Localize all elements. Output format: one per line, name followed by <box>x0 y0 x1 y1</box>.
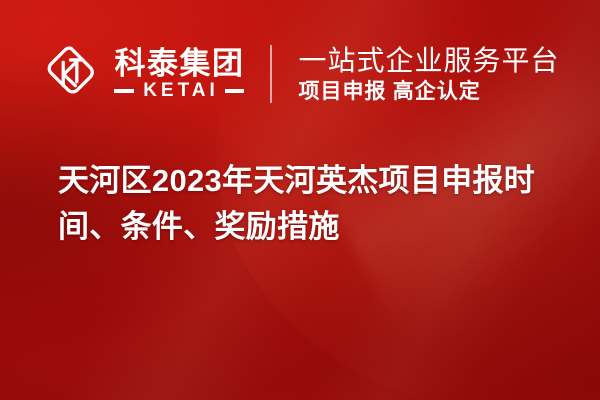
rule-left <box>114 89 134 93</box>
page-title: 天河区2023年天河英杰项目申报时间、条件、奖励措施 <box>58 158 566 250</box>
rule-right <box>225 89 245 93</box>
promo-banner: 科泰集团 KETAI 一站式企业服务平台 项目申报 高企认定 天河区2023年天… <box>0 0 600 400</box>
brand-name-en-row: KETAI <box>114 81 244 100</box>
vertical-divider <box>270 45 272 103</box>
tagline-sub: 项目申报 高企认定 <box>298 80 559 104</box>
ketai-diamond-monogram-logo <box>40 43 102 105</box>
banner-header: 科泰集团 KETAI 一站式企业服务平台 项目申报 高企认定 <box>0 28 600 120</box>
brand-lockup: 科泰集团 KETAI <box>40 43 244 105</box>
brand-name-cn: 科泰集团 <box>114 48 244 79</box>
tagline-main: 一站式企业服务平台 <box>298 45 559 76</box>
brand-name-en: KETAI <box>140 81 219 100</box>
tagline-block: 一站式企业服务平台 项目申报 高企认定 <box>298 45 559 104</box>
brand-wordmark: 科泰集团 KETAI <box>114 48 244 100</box>
